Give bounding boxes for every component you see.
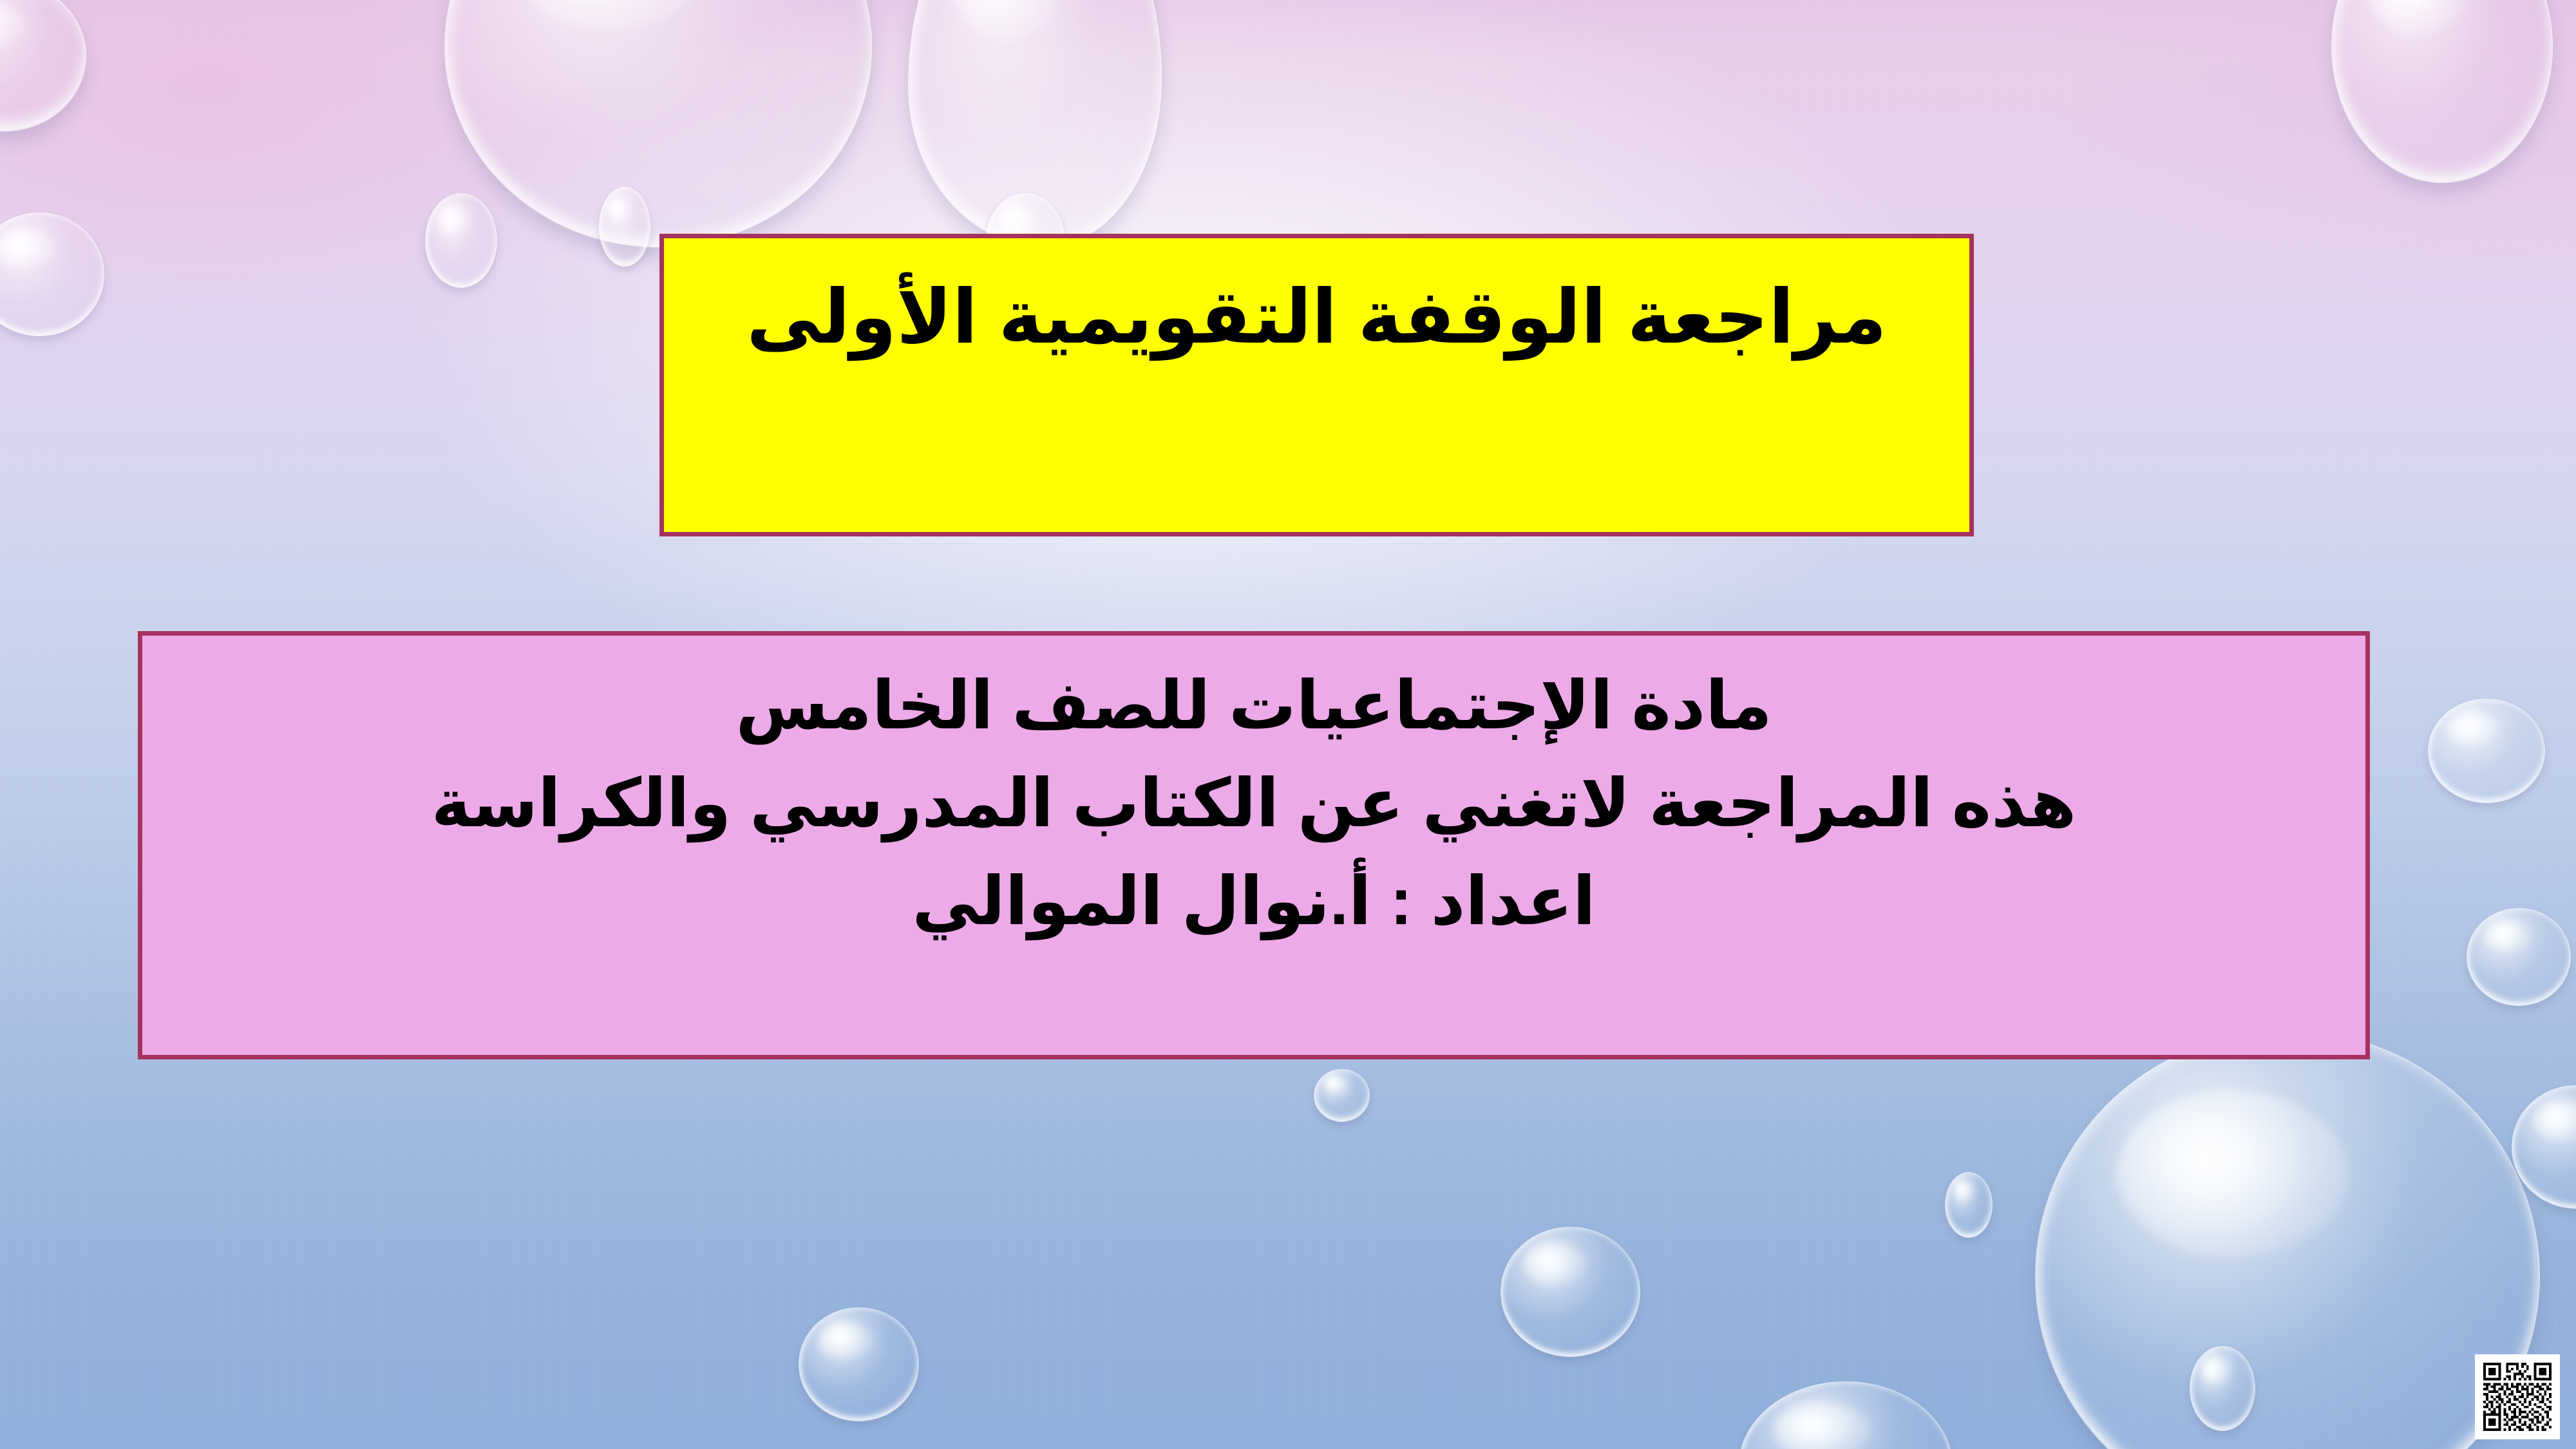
water-droplet-icon bbox=[2467, 908, 2571, 1006]
subtitle-box: مادة الإجتماعيات للصف الخامس هذه المراجع… bbox=[138, 631, 2370, 1059]
subtitle-line-author: اعداد : أ.نوال الموالي bbox=[912, 853, 1595, 951]
water-droplet-icon bbox=[2190, 1346, 2255, 1431]
subtitle-line-subject: مادة الإجتماعيات للصف الخامس bbox=[735, 658, 1772, 755]
water-droplet-icon bbox=[1501, 1227, 1640, 1357]
water-droplet-icon bbox=[1314, 1069, 1370, 1122]
qr-code-image bbox=[2481, 1360, 2554, 1434]
water-droplet-icon bbox=[799, 1307, 919, 1421]
water-droplet-icon bbox=[425, 193, 497, 288]
page-title: مراجعة الوقفة التقويمية الأولى bbox=[746, 272, 1887, 363]
water-droplet-icon bbox=[1945, 1172, 1993, 1238]
water-droplet-icon bbox=[2428, 699, 2545, 803]
title-box: مراجعة الوقفة التقويمية الأولى bbox=[659, 234, 1974, 536]
water-droplet-icon bbox=[599, 187, 650, 267]
subtitle-line-note: هذه المراجعة لاتغني عن الكتاب المدرسي وا… bbox=[431, 755, 2077, 853]
qr-code[interactable] bbox=[2475, 1354, 2560, 1439]
slide-canvas: مراجعة الوقفة التقويمية الأولى مادة الإج… bbox=[0, 0, 2576, 1449]
